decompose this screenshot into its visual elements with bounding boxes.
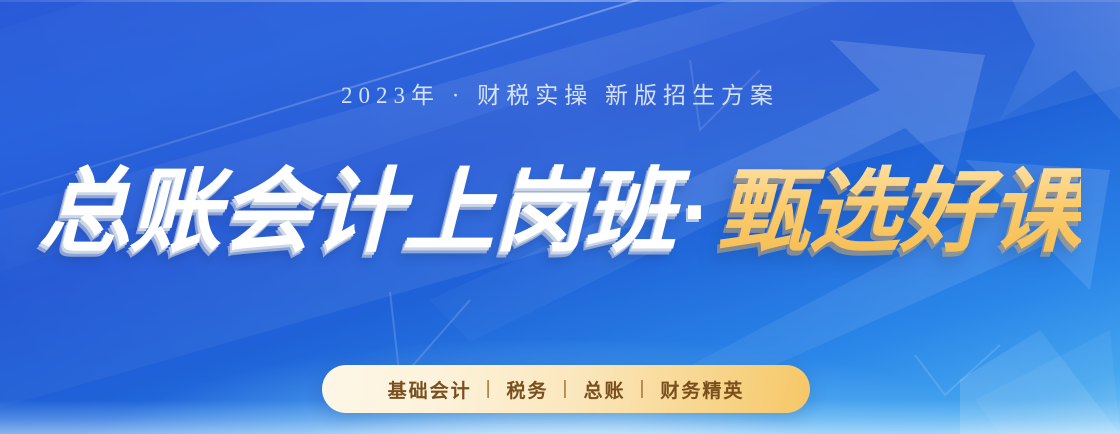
headline-separator: · xyxy=(676,161,718,263)
course-tag-3: 总账 xyxy=(582,376,626,403)
course-tag-4: 财务精英 xyxy=(659,376,745,403)
course-tag-separator-2: | xyxy=(550,378,583,400)
banner-content: 2023年 · 财税实操 新版招生方案 总账会计上岗班·甄选好课 基础会计 | … xyxy=(0,0,1120,434)
headline-white-part: 总账会计上岗班 xyxy=(39,161,676,263)
promo-banner: 2023年 · 财税实操 新版招生方案 总账会计上岗班·甄选好课 基础会计 | … xyxy=(0,0,1120,434)
banner-headline: 总账会计上岗班·甄选好课 xyxy=(0,166,1120,258)
course-tags-list: 基础会计 | 税务 | 总账 | 财务精英 xyxy=(387,376,746,403)
course-tag-separator-3: | xyxy=(626,378,659,400)
course-tag-2: 税务 xyxy=(506,376,550,403)
course-tags-pill[interactable]: 基础会计 | 税务 | 总账 | 财务精英 xyxy=(322,365,810,413)
banner-eyebrow: 2023年 · 财税实操 新版招生方案 xyxy=(0,76,1120,110)
headline-gold-part: 甄选好课 xyxy=(717,161,1081,263)
course-tag-1: 基础会计 xyxy=(387,376,473,403)
course-tag-separator-1: | xyxy=(473,378,506,400)
